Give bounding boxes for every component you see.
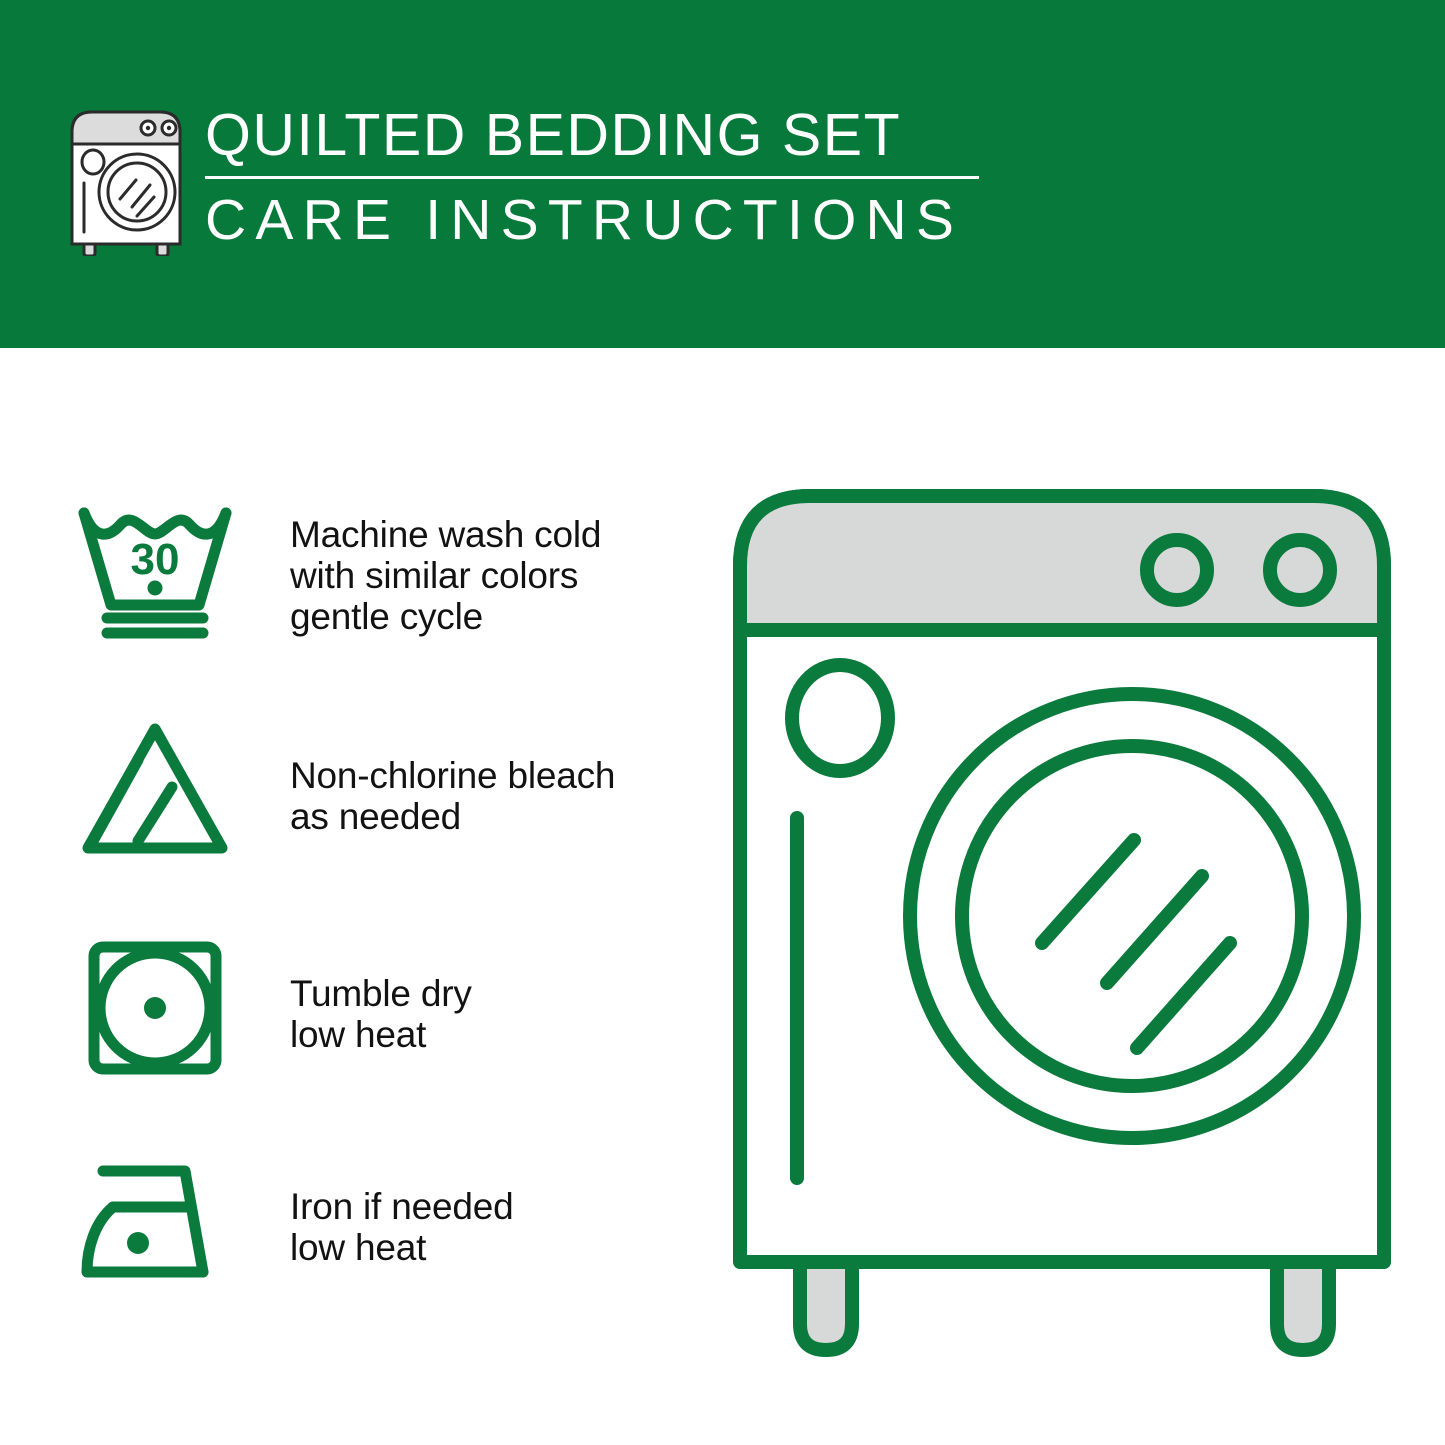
instruction-line: with similar colors — [290, 555, 690, 596]
leg — [800, 1262, 852, 1350]
instruction-line: low heat — [290, 1014, 690, 1055]
instruction-line: low heat — [290, 1227, 690, 1268]
page-title: QUILTED BEDDING SET — [205, 101, 995, 169]
instruction-label: Tumble dry low heat — [290, 973, 690, 1055]
instruction-list: 30 Machine wash cold with similar colors… — [0, 348, 700, 1445]
leg — [1277, 1262, 1329, 1350]
instruction-line: Non-chlorine bleach — [290, 755, 690, 796]
instruction-label: Non-chlorine bleach as needed — [290, 755, 690, 837]
header-band: QUILTED BEDDING SET CARE INSTRUCTIONS — [0, 0, 1445, 348]
instruction-line: gentle cycle — [290, 596, 690, 637]
header-text-block: QUILTED BEDDING SET CARE INSTRUCTIONS — [205, 101, 995, 253]
washing-machine-icon — [62, 104, 190, 256]
instruction-line: as needed — [290, 796, 690, 837]
tumble-dry-low-icon — [75, 935, 235, 1080]
instruction-line: Iron if needed — [290, 1186, 690, 1227]
wash-tub-30-icon: 30 — [75, 498, 235, 643]
iron-low-heat-icon — [75, 1148, 235, 1293]
instruction-label: Machine wash cold with similar colors ge… — [290, 514, 690, 637]
instruction-line: Machine wash cold — [290, 514, 690, 555]
non-chlorine-bleach-triangle-icon — [75, 717, 235, 862]
title-divider — [205, 176, 979, 179]
instruction-label: Iron if needed low heat — [290, 1186, 690, 1268]
instruction-line: Tumble dry — [290, 973, 690, 1014]
care-instructions-page: QUILTED BEDDING SET CARE INSTRUCTIONS — [0, 0, 1445, 1445]
page-subtitle: CARE INSTRUCTIONS — [205, 187, 995, 253]
wash-temperature-label: 30 — [131, 535, 180, 584]
knob — [1147, 540, 1207, 600]
knob — [1270, 540, 1330, 600]
detergent-dial — [792, 665, 888, 771]
door-inner-ring — [962, 746, 1302, 1086]
washing-machine-illustration — [722, 478, 1402, 1358]
